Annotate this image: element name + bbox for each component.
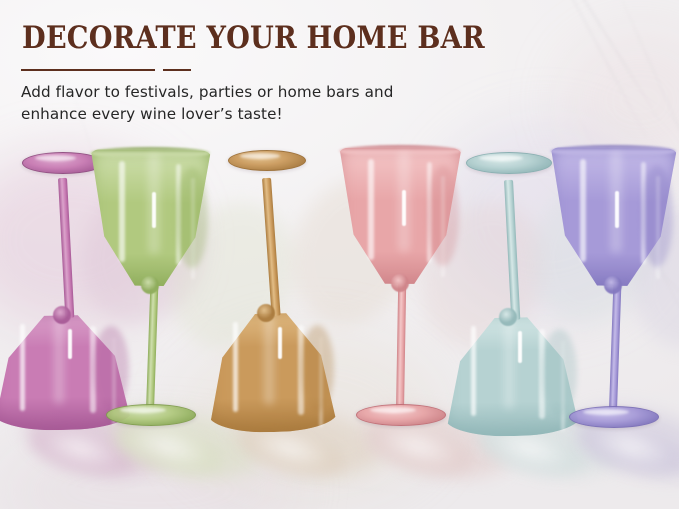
- divider-short-segment: [163, 69, 191, 71]
- page-title: DECORATE YOUR HOME BAR: [22, 20, 485, 56]
- purple-wine-glass: [0, 0, 679, 509]
- glass-inner-shade: [641, 165, 674, 267]
- glass-highlight: [580, 159, 586, 261]
- glass-stem: [609, 282, 621, 410]
- divider-long-segment: [21, 69, 155, 71]
- subtitle-line-2: enhance every wine lover’s taste!: [21, 104, 491, 126]
- glass-specular: [615, 191, 619, 228]
- subtitle: Add flavor to festivals, parties or home…: [21, 82, 491, 125]
- glass-stem-knot: [604, 276, 622, 294]
- product-banner: DECORATE YOUR HOME BAR Add flavor to fes…: [0, 0, 679, 509]
- subtitle-line-1: Add flavor to festivals, parties or home…: [21, 82, 491, 104]
